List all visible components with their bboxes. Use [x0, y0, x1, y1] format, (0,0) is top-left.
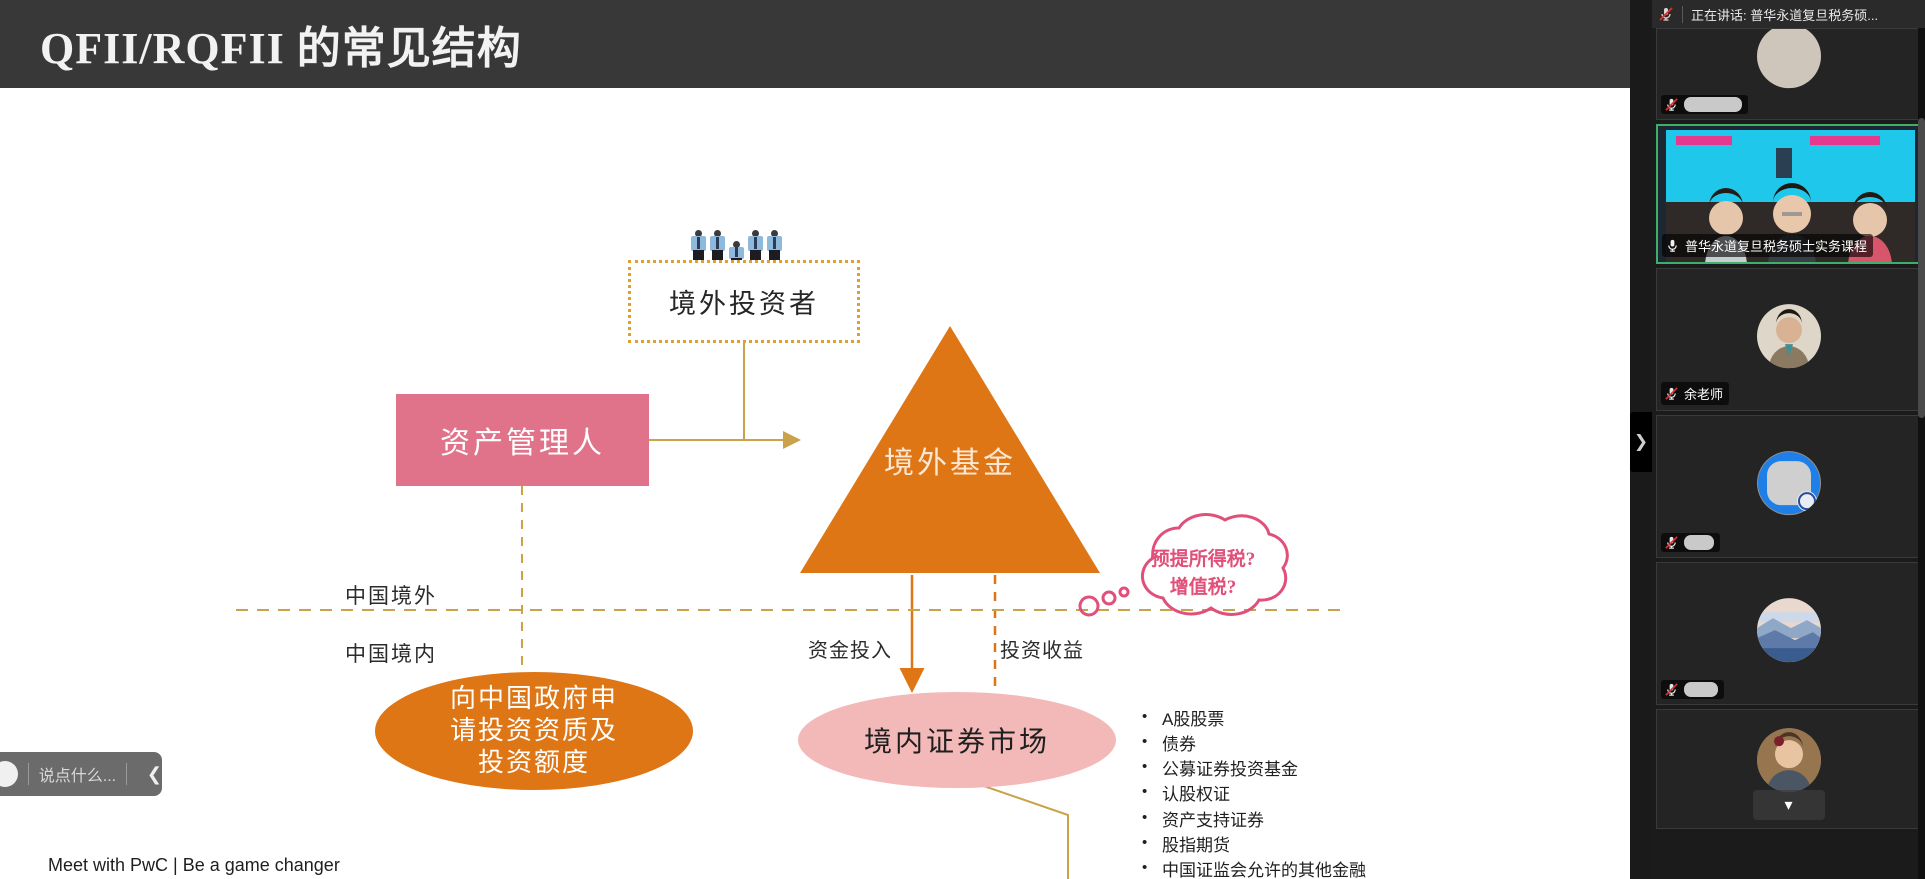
slide-canvas: 境外投资者 资产管理人 境外基金 中国境外 中国境内 资金投入 投资收益 向中国… [0, 88, 1630, 879]
node-offshore-fund-label: 境外基金 [800, 438, 1100, 482]
chevron-left-icon[interactable]: ❮ [147, 764, 162, 785]
mic-muted-icon [1664, 682, 1679, 697]
participant-tile[interactable] [1656, 562, 1921, 705]
scrollbar-thumb[interactable] [1918, 118, 1925, 418]
mic-muted-icon [1664, 97, 1679, 112]
participant-name: 普华永道复旦税务硕士实务课程 [1685, 236, 1867, 255]
list-item: 公募证券投资基金 [1140, 757, 1390, 782]
participant-name-redacted [1684, 682, 1718, 697]
list-item: 资产支持证券 [1140, 808, 1390, 833]
chat-input-bar[interactable]: 说点什么... ❮ [0, 752, 162, 796]
participant-tile-active-speaker[interactable]: 普华永道复旦税务硕士实务课程 [1656, 124, 1921, 264]
mic-muted-icon [1664, 386, 1679, 401]
scroll-down-button[interactable]: ▾ [1753, 790, 1825, 820]
flow-label-capital-injection: 资金投入 [808, 634, 892, 663]
avatar [1757, 728, 1821, 792]
list-item: 认股权证 [1140, 782, 1390, 807]
participant-name-badge [1661, 533, 1720, 552]
node-apply-quota-line2: 请投资资质及 [450, 715, 618, 747]
list-item: 债券 [1140, 732, 1390, 757]
flow-label-investment-return: 投资收益 [1000, 634, 1084, 663]
participant-name-badge: 余老师 [1661, 382, 1729, 405]
participant-tile[interactable] [1656, 28, 1921, 120]
cloud-line-2: 增值税? [1123, 574, 1283, 602]
mic-muted-icon [1664, 535, 1679, 550]
chevron-right-icon: ❯ [1634, 432, 1648, 452]
zone-label-onshore: 中国境内 [345, 638, 437, 668]
zone-label-offshore: 中国境外 [345, 580, 437, 610]
zoom-screenshare-window: QFII/RQFII 的常见结构 [0, 0, 1925, 879]
avatar [0, 761, 18, 787]
divider [126, 763, 127, 785]
chevron-down-icon: ▾ [1784, 795, 1792, 815]
page-title: QFII/RQFII 的常见结构 [40, 12, 522, 76]
node-offshore-investor-label: 境外投资者 [669, 282, 819, 321]
speaking-status-text: 正在讲话: 普华永道复旦税务硕... [1691, 5, 1878, 24]
participants-video-panel: 正在讲话: 普华永道复旦税务硕... [1652, 0, 1925, 879]
thought-cloud-text: 预提所得税? 增值税? [1123, 546, 1283, 601]
participant-tile-list[interactable]: 普华永道复旦税务硕士实务课程 [1652, 28, 1925, 879]
list-item: A股股票 [1140, 707, 1390, 732]
node-asset-manager-label: 资产管理人 [440, 418, 605, 462]
list-item: 中国证监会允许的其他金融 [1140, 858, 1390, 879]
node-apply-quota-line3: 投资额度 [478, 747, 590, 779]
participant-tile[interactable]: 余老师 [1656, 268, 1921, 411]
mic-active-icon [1665, 238, 1680, 253]
node-offshore-fund: 境外基金 [800, 326, 1100, 573]
thought-cloud: 预提所得税? 增值税? [1075, 506, 1325, 646]
participant-name-badge: 普华永道复旦税务硕士实务课程 [1662, 234, 1873, 257]
slide-title-bar: QFII/RQFII 的常见结构 [0, 0, 1630, 88]
avatar [1757, 451, 1821, 515]
avatar [1757, 28, 1821, 88]
participant-tile[interactable] [1656, 415, 1921, 558]
participant-name-badge [1661, 680, 1724, 699]
slide-footer: Meet with PwC | Be a game changer [48, 855, 340, 876]
chat-input-placeholder[interactable]: 说点什么... [39, 762, 116, 786]
participant-name-badge [1661, 95, 1748, 114]
participant-tile[interactable]: ▾ [1656, 709, 1921, 829]
participant-list-scrollbar[interactable] [1918, 28, 1925, 879]
speaking-status-bar: 正在讲话: 普华永道复旦税务硕... [1652, 0, 1925, 28]
mic-muted-icon [1658, 6, 1674, 22]
node-domestic-securities-market-label: 境内证券市场 [864, 720, 1050, 760]
divider [28, 763, 29, 785]
instrument-bullet-list: A股股票 债券 公募证券投资基金 认股权证 资产支持证券 股指期货 中国证监会允… [1140, 707, 1390, 879]
node-domestic-securities-market: 境内证券市场 [798, 692, 1116, 788]
list-item: 股指期货 [1140, 833, 1390, 858]
participant-name: 余老师 [1684, 384, 1723, 403]
node-apply-quota-line1: 向中国政府申 [450, 683, 618, 715]
node-asset-manager: 资产管理人 [396, 394, 649, 486]
panel-collapse-handle[interactable]: ❯ [1630, 412, 1652, 472]
participant-name-redacted [1684, 535, 1714, 550]
avatar [1757, 598, 1821, 662]
cloud-line-1: 预提所得税? [1123, 546, 1283, 574]
shared-slide-area: QFII/RQFII 的常见结构 [0, 0, 1630, 879]
avatar [1757, 304, 1821, 368]
node-apply-quota: 向中国政府申 请投资资质及 投资额度 [375, 672, 693, 790]
divider [1682, 6, 1683, 23]
participant-name-redacted [1684, 97, 1742, 112]
